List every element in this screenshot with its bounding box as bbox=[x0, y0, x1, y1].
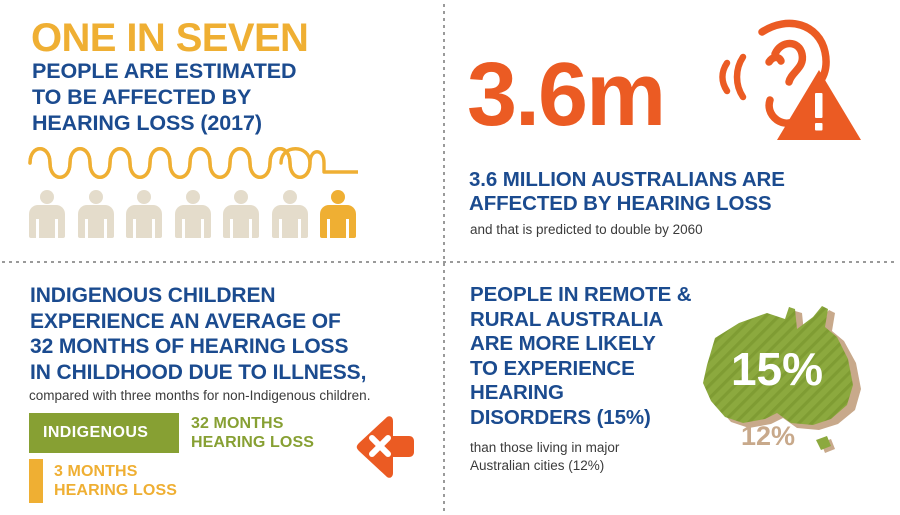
person-icon bbox=[223, 190, 259, 238]
person-icon bbox=[126, 190, 162, 238]
headline-line-5: HEARING bbox=[470, 381, 691, 406]
headline-line-2: RURAL AUSTRALIA bbox=[470, 308, 691, 333]
person-icon-highlighted bbox=[320, 190, 356, 238]
indigenous-label-line-2: HEARING LOSS bbox=[191, 433, 314, 452]
australia-map-icon: 15% 12% bbox=[685, 293, 885, 483]
map-remote-rural-value: 15% bbox=[731, 343, 823, 395]
indigenous-children-headline: INDIGENOUS CHILDREN EXPERIENCE AN AVERAG… bbox=[30, 283, 366, 385]
sound-wave-icon bbox=[28, 142, 358, 189]
panel-one-in-seven: ONE IN SEVEN PEOPLE ARE ESTIMATED TO BE … bbox=[0, 0, 443, 261]
subhead-line-2: AFFECTED BY HEARING LOSS bbox=[469, 192, 785, 216]
indigenous-children-footnote: compared with three months for non-Indig… bbox=[29, 387, 370, 405]
footnote-line-1: than those living in major bbox=[470, 439, 619, 457]
headline-line-3: 32 MONTHS OF HEARING LOSS bbox=[30, 334, 366, 360]
panel-three-point-six-million: 3.6m 3.6 MILLION AUST bbox=[443, 0, 900, 261]
non-indigenous-label-line-2: HEARING LOSS bbox=[54, 481, 177, 500]
three-six-million-footnote: and that is predicted to double by 2060 bbox=[470, 221, 703, 239]
person-icon bbox=[175, 190, 211, 238]
ear-with-soundwaves-icon bbox=[715, 10, 865, 160]
panel-indigenous-children: INDIGENOUS CHILDREN EXPERIENCE AN AVERAG… bbox=[0, 261, 443, 515]
legend-row-indigenous: INDIGENOUS 32 MONTHS HEARING LOSS bbox=[29, 413, 314, 453]
headline-line-1: PEOPLE IN REMOTE & bbox=[470, 283, 691, 308]
person-icon bbox=[29, 190, 65, 238]
headline-line-3: ARE MORE LIKELY bbox=[470, 332, 691, 357]
indigenous-legend-label: 32 MONTHS HEARING LOSS bbox=[191, 414, 314, 452]
non-indigenous-bar bbox=[29, 459, 43, 503]
big-number-3-6m: 3.6m bbox=[467, 50, 664, 140]
subhead-line-1: PEOPLE ARE ESTIMATED bbox=[32, 58, 296, 84]
map-major-cities-value: 12% bbox=[741, 421, 795, 451]
headline-line-2: EXPERIENCE AN AVERAGE OF bbox=[30, 309, 366, 335]
legend-row-non-indigenous: 3 MONTHS HEARING LOSS bbox=[29, 459, 314, 503]
indigenous-label-line-1: 32 MONTHS bbox=[191, 414, 314, 433]
speaker-muted-icon bbox=[355, 413, 417, 484]
person-icon bbox=[272, 190, 308, 238]
headline-line-4: TO EXPERIENCE bbox=[470, 357, 691, 382]
person-icon bbox=[78, 190, 114, 238]
one-in-seven-headline: ONE IN SEVEN bbox=[31, 18, 308, 58]
headline-line-6: DISORDERS (15%) bbox=[470, 406, 691, 431]
non-indigenous-label-line-1: 3 MONTHS bbox=[54, 462, 177, 481]
three-six-million-subhead: 3.6 MILLION AUSTRALIANS ARE AFFECTED BY … bbox=[469, 168, 785, 216]
remote-rural-footnote: than those living in major Australian ci… bbox=[470, 439, 619, 475]
panel-remote-rural: PEOPLE IN REMOTE & RURAL AUSTRALIA ARE M… bbox=[443, 261, 900, 515]
non-indigenous-legend-label: 3 MONTHS HEARING LOSS bbox=[54, 462, 177, 500]
remote-rural-headline: PEOPLE IN REMOTE & RURAL AUSTRALIA ARE M… bbox=[470, 283, 691, 430]
subhead-line-2: TO BE AFFECTED BY bbox=[32, 84, 296, 110]
headline-line-4: IN CHILDHOOD DUE TO ILLNESS, bbox=[30, 360, 366, 386]
headline-line-1: INDIGENOUS CHILDREN bbox=[30, 283, 366, 309]
people-row bbox=[29, 190, 356, 238]
indigenous-badge: INDIGENOUS bbox=[29, 413, 179, 453]
infographic-canvas: ONE IN SEVEN PEOPLE ARE ESTIMATED TO BE … bbox=[0, 0, 900, 515]
subhead-line-3: HEARING LOSS (2017) bbox=[32, 110, 296, 136]
footnote-line-2: Australian cities (12%) bbox=[470, 457, 619, 475]
subhead-line-1: 3.6 MILLION AUSTRALIANS ARE bbox=[469, 168, 785, 192]
one-in-seven-subhead: PEOPLE ARE ESTIMATED TO BE AFFECTED BY H… bbox=[32, 58, 296, 136]
hearing-loss-legend: INDIGENOUS 32 MONTHS HEARING LOSS 3 MONT… bbox=[29, 413, 314, 503]
